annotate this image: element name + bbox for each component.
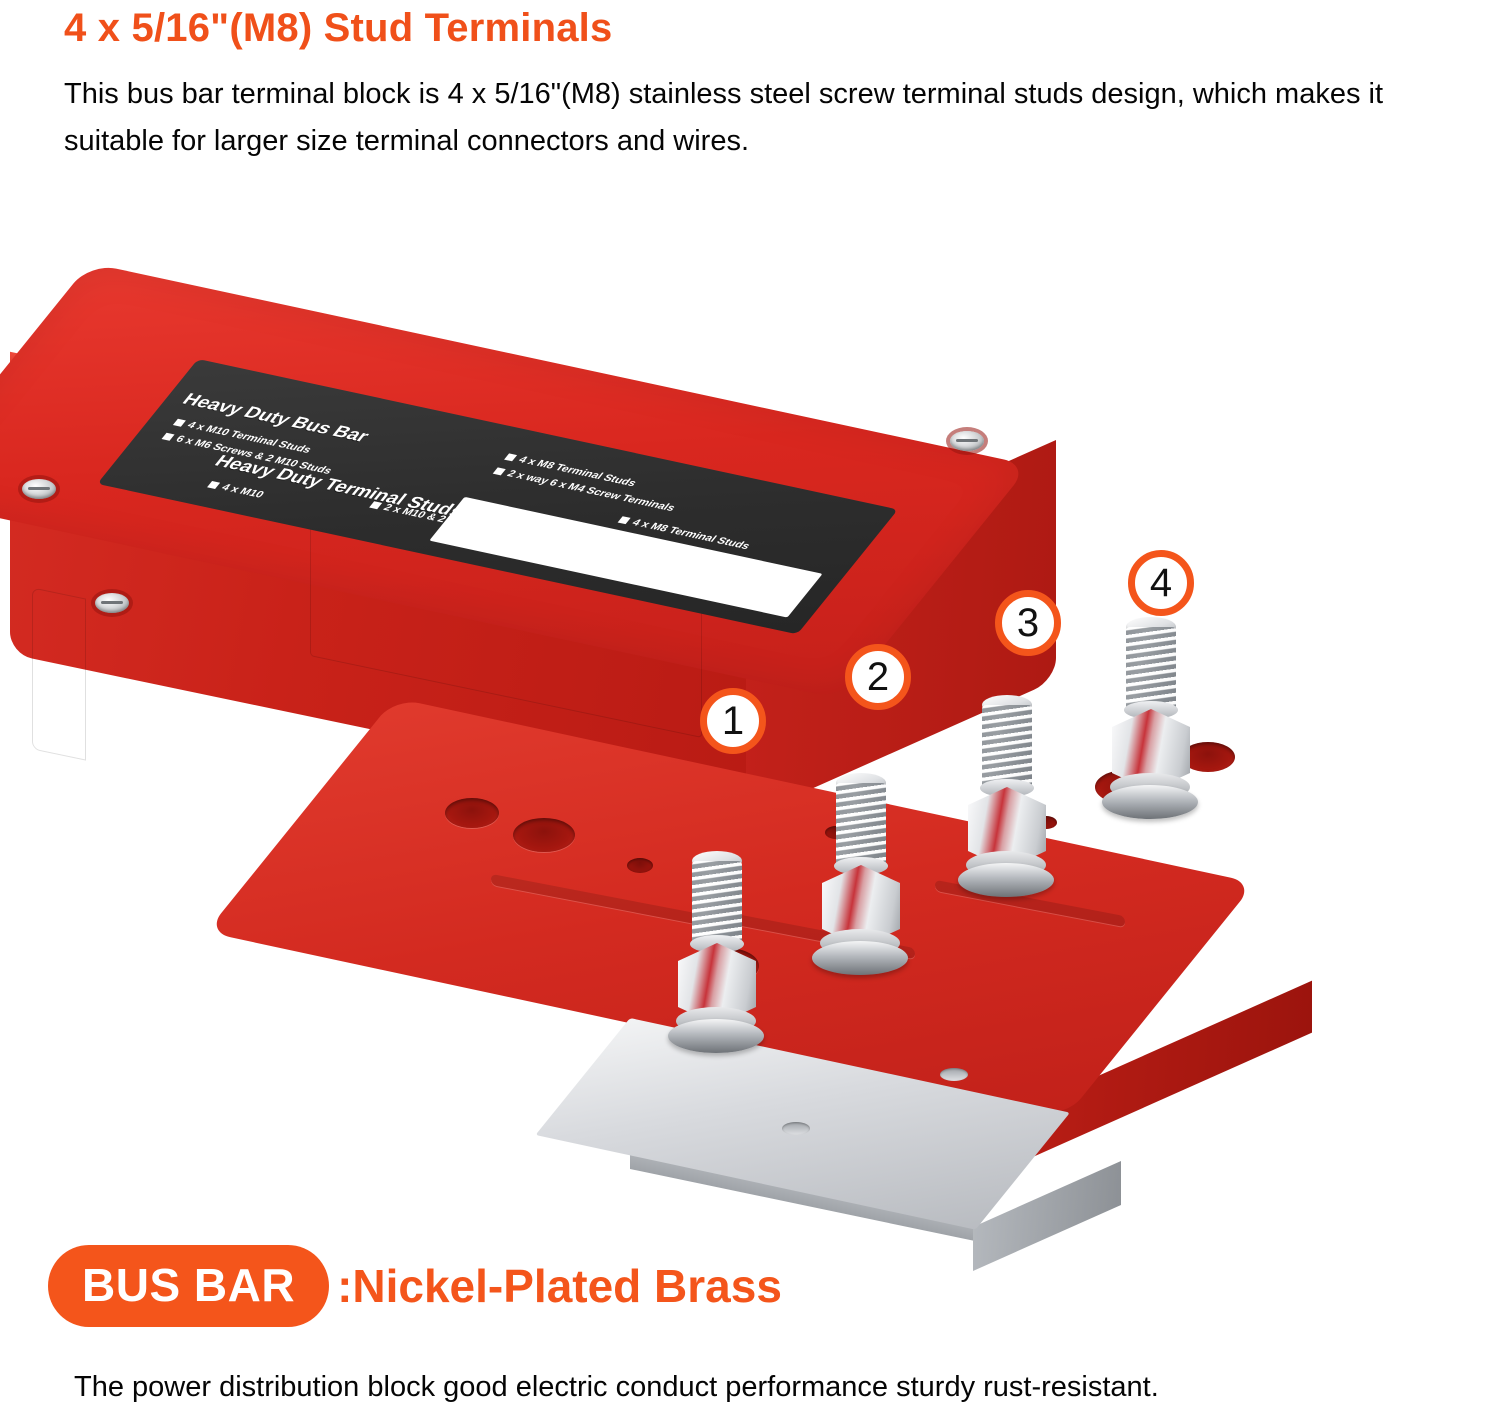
bus-bar-callout-row: BUS BAR :Nickel-Plated Brass: [48, 1238, 1468, 1334]
bottom-text-block: BUS BAR :Nickel-Plated Brass The power d…: [48, 1238, 1468, 1410]
callout-badge-4[interactable]: 4: [1128, 550, 1194, 616]
screw-head-icon: [950, 431, 984, 451]
enclosure-left-notch: [32, 587, 86, 760]
mounting-hole-icon: [445, 798, 499, 828]
bottom-description: The power distribution block good electr…: [74, 1366, 1468, 1410]
callout-badge-1[interactable]: 1: [700, 688, 766, 754]
bus-bar-material-text: :Nickel-Plated Brass: [337, 1263, 782, 1309]
threaded-stud-icon: [958, 642, 1058, 897]
top-description: This bus bar terminal block is 4 x 5/16"…: [64, 71, 1394, 165]
bus-bar-dimple: [940, 1068, 968, 1081]
small-hole-icon: [627, 858, 653, 873]
top-text-block: 4 x 5/16"(M8) Stud Terminals This bus ba…: [64, 4, 1464, 165]
page-headline: 4 x 5/16"(M8) Stud Terminals: [64, 4, 1464, 53]
bus-bar-pill-label: BUS BAR: [48, 1245, 329, 1327]
mounting-hole-icon: [513, 818, 575, 852]
callout-badge-2[interactable]: 2: [845, 644, 911, 710]
threaded-stud-icon: [668, 798, 768, 1053]
callout-badge-3[interactable]: 3: [995, 590, 1061, 656]
product-photo: Heavy Duty Bus Bar 4 x M10 Terminal Stud…: [0, 228, 1500, 1228]
screw-head-icon: [22, 479, 56, 499]
threaded-stud-icon: [812, 720, 912, 975]
bus-bar-dimple: [782, 1122, 810, 1135]
label-bullet-2: 4 x M10: [206, 479, 266, 500]
screw-head-icon: [95, 593, 129, 613]
